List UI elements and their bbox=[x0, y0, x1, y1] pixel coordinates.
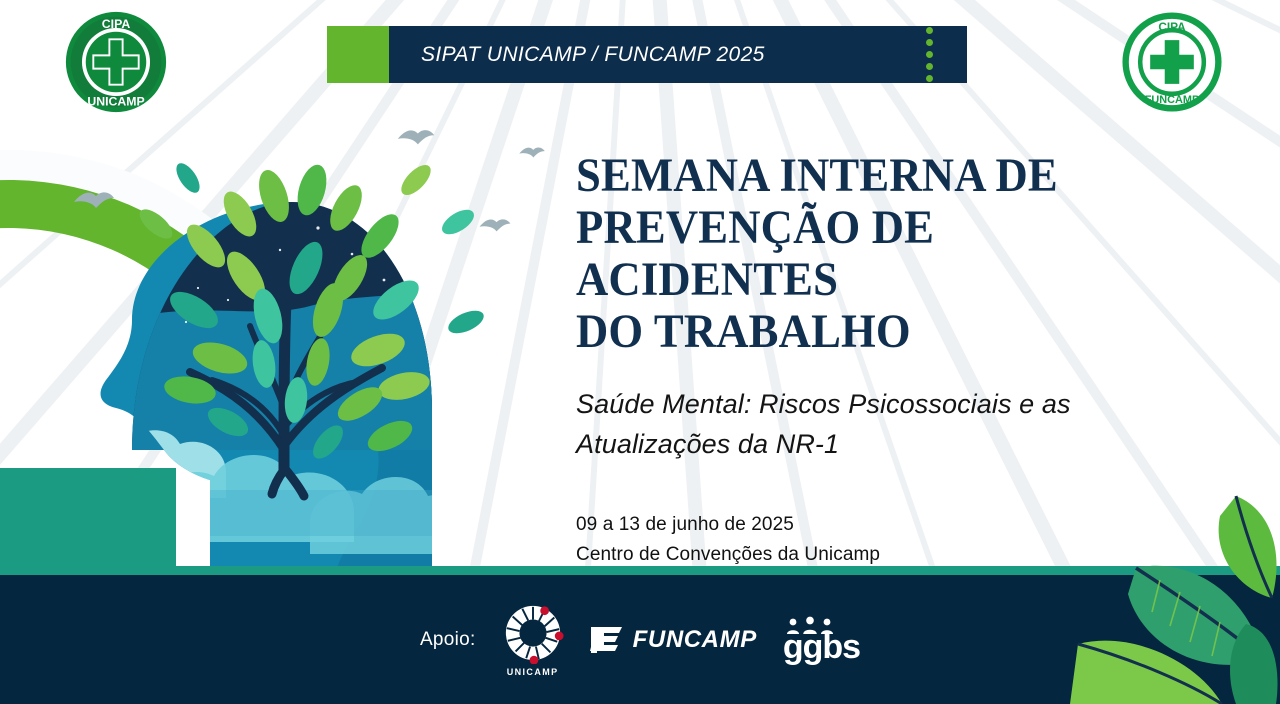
ggbs-wordmark: ggbs bbox=[783, 630, 860, 664]
bird-icon bbox=[396, 124, 436, 152]
subtitle-line-1: Saúde Mental: Riscos Psicossociais e as bbox=[576, 384, 1216, 424]
footer-leaves-decoration bbox=[1040, 494, 1280, 704]
dot bbox=[926, 75, 933, 82]
sponsor-logo-funcamp: FUNCAMP bbox=[590, 625, 757, 655]
poster-canvas: CIPA UNICAMP CIPA FUNCAMP SIPAT UNICAMP … bbox=[0, 0, 1280, 704]
title-line-3: DO TRABALHO bbox=[576, 306, 1171, 358]
title-line-1: SEMANA INTERNA DE bbox=[576, 150, 1171, 202]
bird-icon bbox=[72, 186, 116, 216]
header-dots-decoration bbox=[926, 27, 939, 82]
page-subtitle: Saúde Mental: Riscos Psicossociais e as … bbox=[576, 384, 1216, 464]
head-illustration bbox=[60, 150, 480, 580]
header-bar-title: SIPAT UNICAMP / FUNCAMP 2025 bbox=[389, 43, 765, 67]
page-title: SEMANA INTERNA DE PREVENÇÃO DE ACIDENTES… bbox=[576, 150, 1171, 358]
support-label: Apoio: bbox=[420, 629, 476, 651]
bird-icon bbox=[518, 142, 546, 164]
subtitle-line-2: Atualizações da NR-1 bbox=[576, 424, 1216, 464]
bird-icon bbox=[478, 214, 512, 238]
title-line-2: PREVENÇÃO DE ACIDENTES bbox=[576, 202, 1171, 306]
header-accent-block bbox=[327, 26, 389, 83]
cipa-unicamp-logo: CIPA UNICAMP bbox=[64, 10, 168, 114]
funcamp-mark-icon bbox=[590, 625, 624, 655]
header-bar-body: SIPAT UNICAMP / FUNCAMP 2025 bbox=[389, 26, 967, 83]
dot bbox=[926, 39, 933, 46]
dot bbox=[926, 51, 933, 58]
unicamp-mark-icon bbox=[502, 602, 564, 664]
dot bbox=[926, 63, 933, 70]
sponsor-logo-unicamp: UNICAMP bbox=[502, 602, 564, 677]
cipa-unicamp-top-text: CIPA bbox=[102, 17, 131, 31]
header-bar: SIPAT UNICAMP / FUNCAMP 2025 bbox=[327, 26, 967, 83]
cipa-unicamp-bottom-text: UNICAMP bbox=[87, 94, 144, 108]
cipa-funcamp-logo: CIPA FUNCAMP bbox=[1122, 12, 1222, 112]
dot bbox=[926, 27, 933, 34]
head-tree-svg bbox=[60, 150, 490, 590]
unicamp-wordmark: UNICAMP bbox=[505, 667, 561, 677]
funcamp-wordmark: FUNCAMP bbox=[633, 626, 757, 654]
cipa-funcamp-bottom-text: FUNCAMP bbox=[1145, 94, 1199, 106]
cipa-funcamp-top-text: CIPA bbox=[1158, 20, 1186, 34]
sponsor-logo-ggbs: ggbs bbox=[783, 616, 860, 664]
